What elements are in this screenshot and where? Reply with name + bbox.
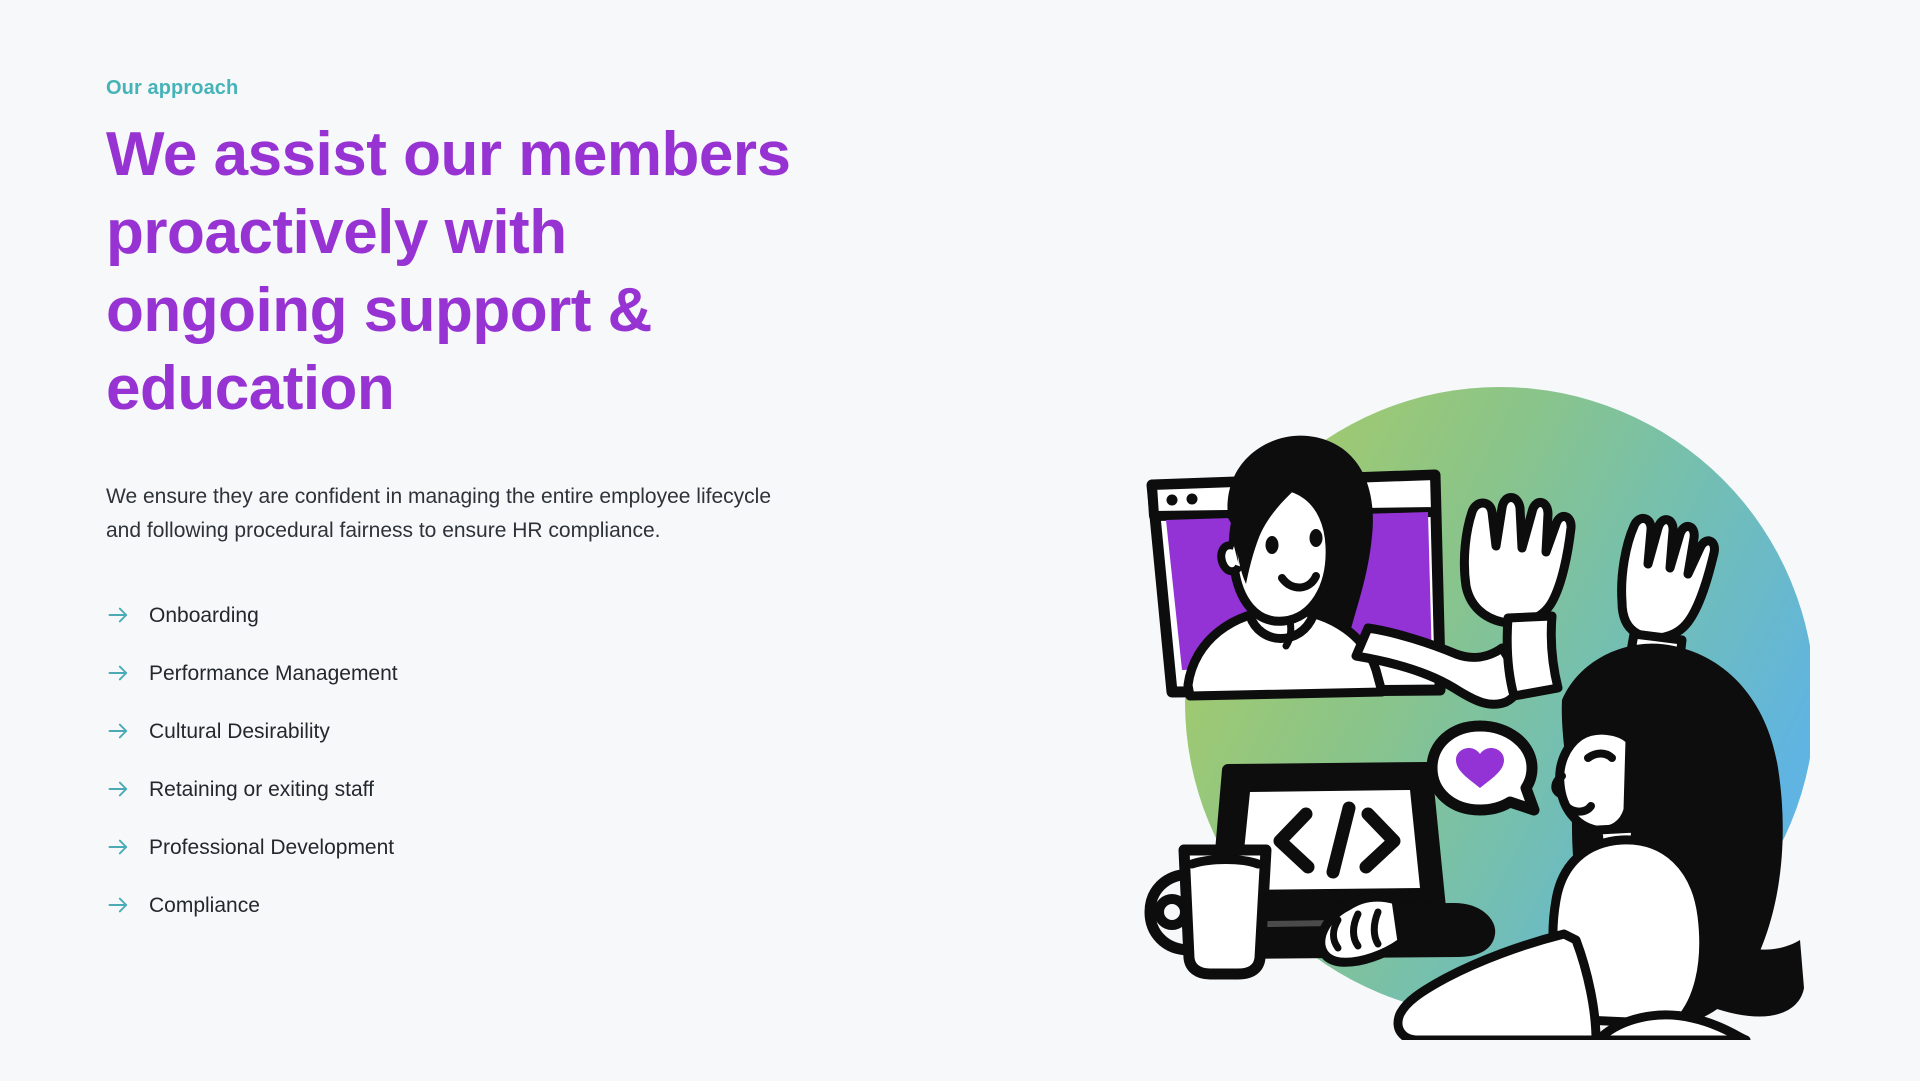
section-eyebrow: Our approach <box>106 76 826 100</box>
list-item[interactable]: Cultural Desirability <box>106 702 826 760</box>
coffee-mug <box>1150 850 1266 974</box>
feature-list: Onboarding Performance Management <box>106 586 826 934</box>
high-five-illustration <box>1110 340 1810 1040</box>
list-item-label: Performance Management <box>149 660 398 687</box>
arrow-right-icon <box>106 719 130 743</box>
list-item[interactable]: Onboarding <box>106 586 826 644</box>
arrow-right-icon <box>106 603 130 627</box>
list-item[interactable]: Compliance <box>106 876 826 934</box>
page-title: We assist our members proactively with o… <box>106 116 806 428</box>
text-column: Our approach We assist our members proac… <box>106 76 826 934</box>
list-item-label: Retaining or exiting staff <box>149 776 374 803</box>
arrow-right-icon <box>106 835 130 859</box>
list-item[interactable]: Performance Management <box>106 644 826 702</box>
arrow-right-icon <box>106 893 130 917</box>
list-item-label: Cultural Desirability <box>149 718 330 745</box>
heart-speech-bubble <box>1432 726 1534 810</box>
arrow-right-icon <box>106 777 130 801</box>
list-item-label: Onboarding <box>149 602 259 629</box>
section-description: We ensure they are confident in managing… <box>106 480 778 548</box>
list-item-label: Compliance <box>149 892 260 919</box>
our-approach-section: Our approach We assist our members proac… <box>0 0 1920 1081</box>
list-item-label: Professional Development <box>149 834 394 861</box>
list-item[interactable]: Professional Development <box>106 818 826 876</box>
arrow-right-icon <box>106 661 130 685</box>
list-item[interactable]: Retaining or exiting staff <box>106 760 826 818</box>
